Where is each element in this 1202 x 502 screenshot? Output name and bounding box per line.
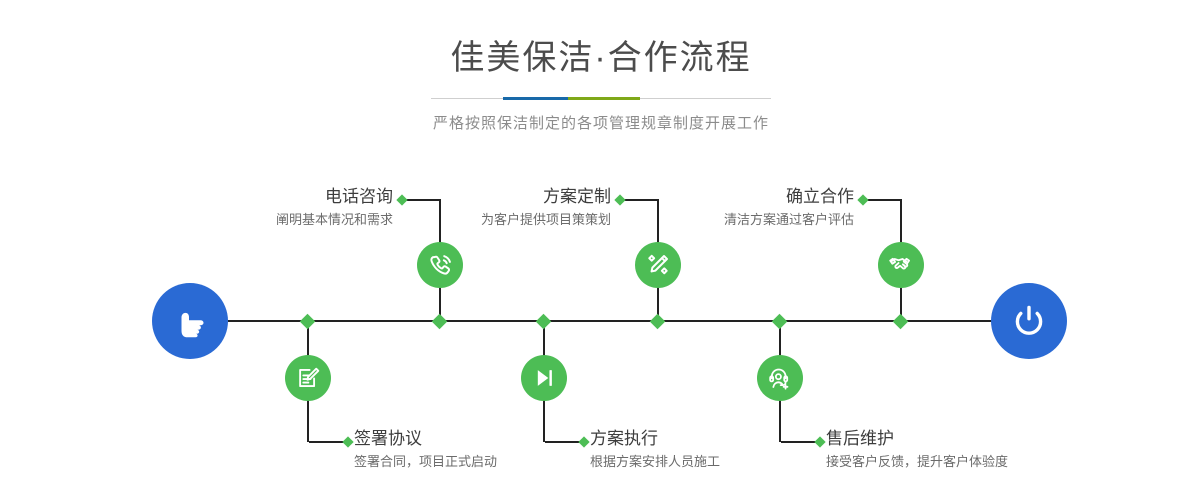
timeline-end-node[interactable] <box>991 283 1067 359</box>
axis-marker-top-1 <box>432 314 448 330</box>
pencil-ruler-icon <box>643 250 673 280</box>
timeline-start-node[interactable] <box>152 283 228 359</box>
step-node-top-2[interactable] <box>635 242 681 288</box>
power-icon <box>1007 299 1051 343</box>
step-node-top-1[interactable] <box>417 242 463 288</box>
label-marker-bottom-1 <box>342 436 353 447</box>
step-node-bottom-3[interactable] <box>757 355 803 401</box>
play-skip-icon <box>529 363 559 393</box>
axis-marker-top-3 <box>893 314 909 330</box>
step-title: 方案定制 <box>356 186 611 208</box>
customer-service-icon <box>765 363 795 393</box>
label-marker-top-3 <box>857 194 868 205</box>
step-node-bottom-1[interactable] <box>285 355 331 401</box>
step-desc: 清洁方案通过客户评估 <box>599 210 854 230</box>
axis-marker-bottom-2 <box>536 314 552 330</box>
step-title: 电话咨询 <box>138 186 393 208</box>
step-label-bottom-3: 售后维护 接受客户反馈，提升客户体验度 <box>826 428 1156 472</box>
step-desc: 阐明基本情况和需求 <box>138 210 393 230</box>
timeline-main-line <box>228 320 995 322</box>
step-node-top-3[interactable] <box>878 242 924 288</box>
step-title: 售后维护 <box>826 428 1156 450</box>
step-desc: 接受客户反馈，提升客户体验度 <box>826 452 1156 472</box>
axis-marker-top-2 <box>650 314 666 330</box>
step-label-top-2: 方案定制 为客户提供项目策策划 <box>356 186 611 230</box>
axis-marker-bottom-1 <box>300 314 316 330</box>
flow-infographic: 佳美保洁·合作流程 严格按照保洁制定的各项管理规章制度开展工作 <box>0 0 1202 502</box>
phone-call-icon <box>425 250 455 280</box>
step-label-top-3: 确立合作 清洁方案通过客户评估 <box>599 186 854 230</box>
step-label-top-1: 电话咨询 阐明基本情况和需求 <box>138 186 393 230</box>
step-title: 确立合作 <box>599 186 854 208</box>
timeline: 电话咨询 阐明基本情况和需求 方案定制 为客户提供项目策策划 <box>0 0 1202 502</box>
pointing-hand-icon <box>168 299 212 343</box>
branch-leader-top-3 <box>864 199 902 201</box>
step-node-bottom-2[interactable] <box>521 355 567 401</box>
step-desc: 为客户提供项目策策划 <box>356 210 611 230</box>
handshake-icon <box>886 250 916 280</box>
axis-marker-bottom-3 <box>772 314 788 330</box>
document-edit-icon <box>293 363 323 393</box>
